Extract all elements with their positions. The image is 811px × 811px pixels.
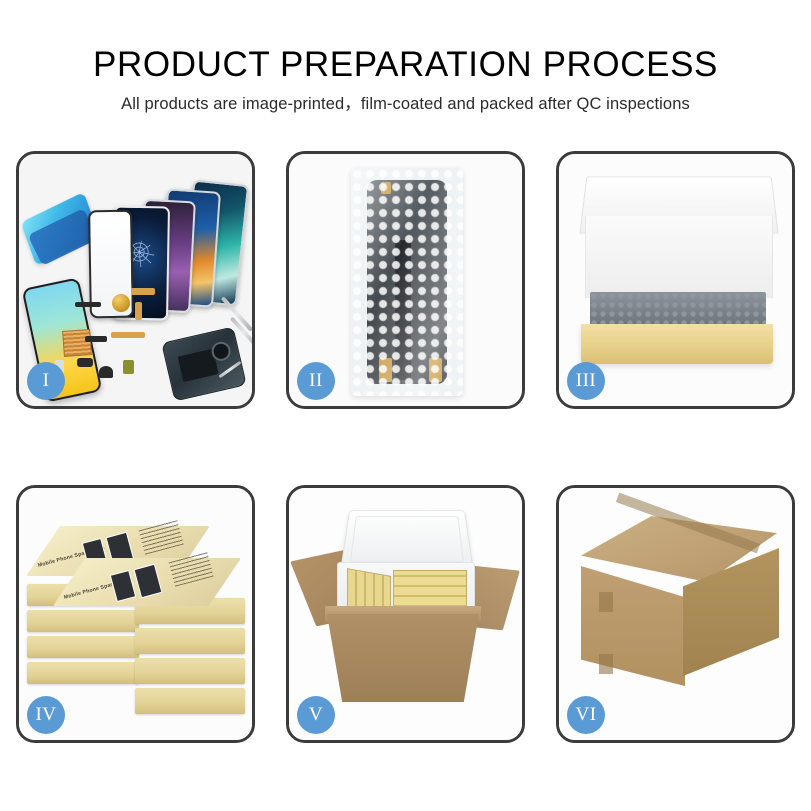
process-step-grid: I II bbox=[16, 151, 795, 743]
flex-cable-4-icon bbox=[85, 336, 107, 342]
step-badge-4: IV bbox=[27, 696, 65, 734]
page-title: PRODUCT PREPARATION PROCESS bbox=[0, 44, 811, 86]
step-badge-6: VI bbox=[567, 696, 605, 734]
carton-front-face-icon bbox=[581, 566, 685, 686]
stacked-box bbox=[135, 658, 245, 684]
kraft-box-front-icon bbox=[581, 324, 773, 364]
carton-tape-patch-upper-icon bbox=[599, 592, 613, 612]
step-badge-2: II bbox=[297, 362, 335, 400]
box-stack-icon: Mobile Phone Spare Parts Mobile Phone Sp… bbox=[25, 510, 251, 722]
stacked-box bbox=[135, 688, 245, 714]
stacked-box bbox=[135, 628, 245, 654]
stacked-box bbox=[27, 662, 139, 684]
step-badge-3: III bbox=[567, 362, 605, 400]
connector-part-icon bbox=[123, 360, 134, 374]
page-subtitle: All products are image-printed，film-coat… bbox=[0, 93, 811, 115]
step-badge-1: I bbox=[27, 362, 65, 400]
speaker-part-icon bbox=[75, 302, 101, 307]
bubble-foam-padding-icon bbox=[590, 292, 766, 326]
taptic-part-icon bbox=[99, 366, 113, 378]
chip-grid-icon bbox=[62, 329, 92, 357]
product-preparation-infographic: PRODUCT PREPARATION PROCESS All products… bbox=[0, 0, 811, 811]
bubble-wrap-package-icon bbox=[351, 168, 463, 396]
process-step-5: V bbox=[286, 485, 525, 743]
gold-component-icon bbox=[112, 294, 130, 312]
flex-cable-1-icon bbox=[131, 288, 155, 295]
flex-cable-2-icon bbox=[135, 302, 142, 320]
flex-cable-3-icon bbox=[111, 332, 145, 338]
process-step-6: VI bbox=[556, 485, 795, 743]
process-step-2: II bbox=[286, 151, 525, 409]
stacked-box bbox=[27, 610, 139, 632]
process-step-3: III bbox=[556, 151, 795, 409]
step-badge-5: V bbox=[297, 696, 335, 734]
process-step-1: I bbox=[16, 151, 255, 409]
box-inner-liner-icon bbox=[585, 216, 773, 298]
process-step-4: Mobile Phone Spare Parts Mobile Phone Sp… bbox=[16, 485, 255, 743]
stacked-box bbox=[27, 636, 139, 658]
small-part-icon bbox=[77, 358, 93, 367]
header: PRODUCT PREPARATION PROCESS All products… bbox=[0, 44, 811, 115]
carton-tape-patch-lower-icon bbox=[599, 654, 613, 674]
carton-body-icon bbox=[327, 614, 479, 702]
wrap-sheen bbox=[351, 168, 463, 396]
